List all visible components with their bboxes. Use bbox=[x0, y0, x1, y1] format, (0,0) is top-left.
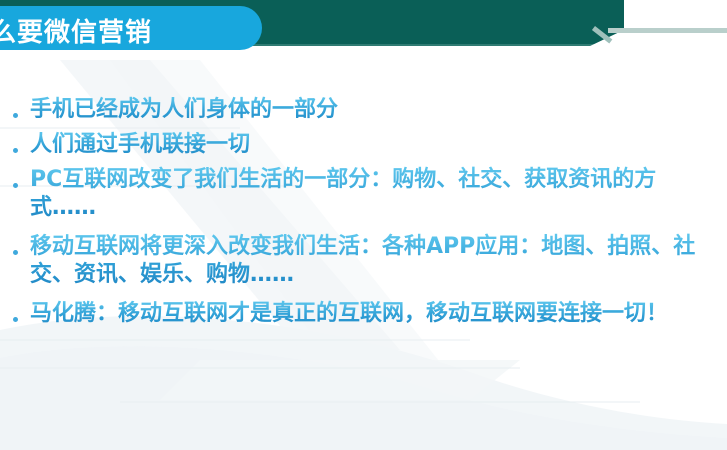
list-item: PC互联网改变了我们生活的一部分：购物、社交、获取资讯的方式…… bbox=[0, 166, 727, 222]
list-gap bbox=[0, 289, 727, 300]
list-item: 人们通过手机联接一切 bbox=[0, 131, 727, 159]
list-gap bbox=[0, 159, 727, 166]
list-item-text: 移动互联网将更深入改变我们生活：各种APP应用：地图、拍照、社交、资讯、娱乐、购… bbox=[30, 233, 723, 289]
bullet-dot-icon bbox=[0, 300, 30, 326]
title-pill: 为什么要微信营销 bbox=[0, 6, 262, 50]
list-item-text: 人们通过手机联接一切 bbox=[30, 131, 723, 159]
list-item: 手机已经成为人们身体的一部分 bbox=[0, 96, 727, 124]
page-title: 为什么要微信营销 bbox=[0, 13, 204, 53]
list-gap bbox=[0, 124, 727, 131]
header-banner-bevel-strip bbox=[608, 28, 727, 33]
list-item: 马化腾：移动互联网才是真正的互联网，移动互联网要连接一切！ bbox=[0, 300, 727, 328]
bullet-dot-icon bbox=[0, 166, 30, 192]
bullet-dot-icon bbox=[0, 233, 30, 259]
list-gap bbox=[0, 222, 727, 233]
bullet-list: 手机已经成为人们身体的一部分 人们通过手机联接一切 PC互联网改变了我们生活的一… bbox=[0, 96, 727, 328]
list-item: 移动互联网将更深入改变我们生活：各种APP应用：地图、拍照、社交、资讯、娱乐、购… bbox=[0, 233, 727, 289]
slide-canvas: 为什么要微信营销 手机已经成为人们身体的一部分 人们通过手机联接一切 PC互联网… bbox=[0, 0, 727, 450]
list-item-text: 马化腾：移动互联网才是真正的互联网，移动互联网要连接一切！ bbox=[30, 300, 723, 328]
bullet-dot-icon bbox=[0, 96, 30, 122]
bullet-dot-icon bbox=[0, 131, 30, 157]
list-item-text: PC互联网改变了我们生活的一部分：购物、社交、获取资讯的方式…… bbox=[30, 166, 723, 222]
slide-header: 为什么要微信营销 bbox=[0, 0, 727, 52]
list-item-text: 手机已经成为人们身体的一部分 bbox=[30, 96, 723, 124]
